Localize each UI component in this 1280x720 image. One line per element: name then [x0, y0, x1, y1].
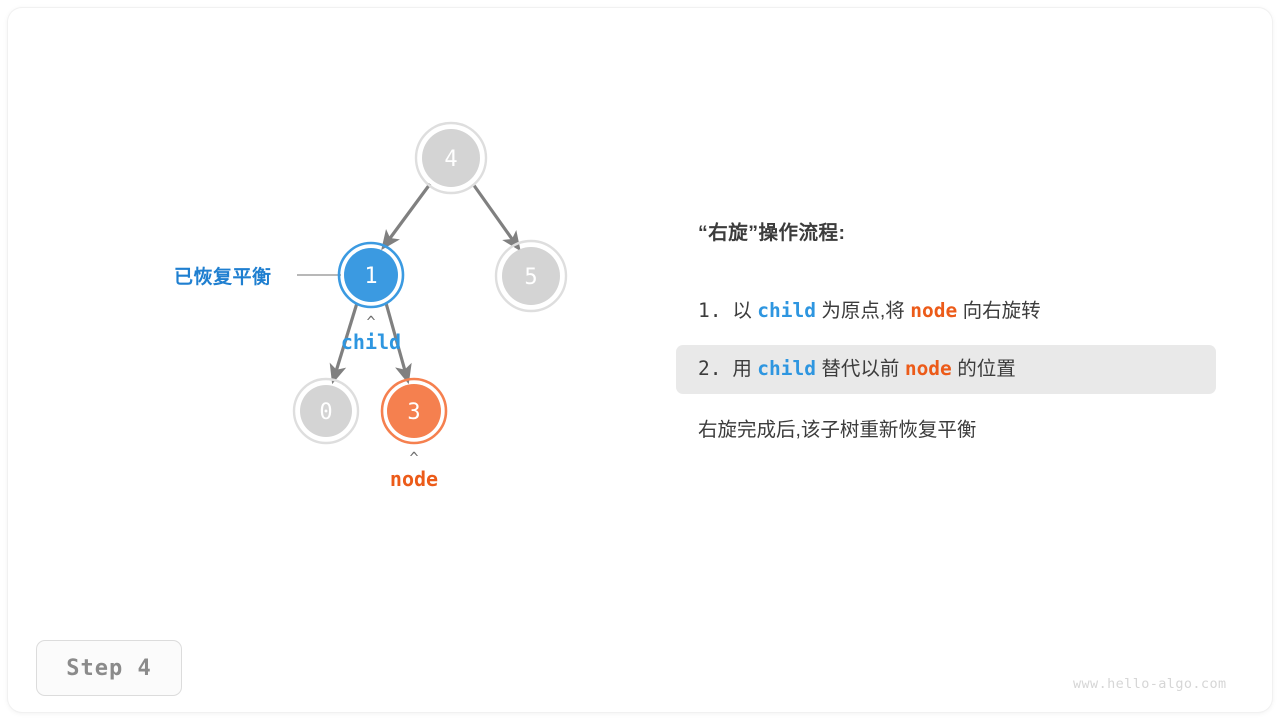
node-pointer-annotation: ^ node [390, 449, 438, 491]
explain-step-1: 1. 以 child 为原点,将 node 向右旋转 [676, 287, 1216, 335]
step-2-index: 2. [698, 357, 721, 380]
step-2-keyword-node: node [905, 357, 952, 380]
tree-node-3[interactable]: 3 [382, 379, 446, 443]
step-2-seg2: 替代以前 [821, 358, 899, 380]
explain-conclusion: 右旋完成后,该子树重新恢复平衡 [676, 406, 1216, 454]
panel-title: “右旋”操作流程: [676, 216, 1216, 245]
node-5-label: 5 [524, 265, 537, 290]
explain-step-2: 2. 用 child 替代以前 node 的位置 [676, 345, 1216, 393]
step-1-seg1: 以 [732, 300, 752, 322]
step-2-seg3: 的位置 [957, 358, 1016, 380]
node-0-label: 0 [319, 400, 332, 425]
site-watermark: www.hello-algo.com [1073, 676, 1227, 692]
step-1-index: 1. [698, 299, 721, 322]
tree-node-4[interactable]: 4 [416, 123, 486, 193]
edge-4-5 [473, 184, 517, 246]
step-1-seg2: 为原点,将 [821, 300, 904, 322]
screenshot-root: 4 5 0 1 3 ^ child [0, 0, 1280, 720]
tree-node-1[interactable]: 1 [339, 243, 403, 307]
explanation-panel: “右旋”操作流程: 1. 以 child 为原点,将 node 向右旋转 2. … [676, 216, 1216, 464]
node-1-label: 1 [364, 264, 377, 289]
step-1-seg3: 向右旋转 [963, 300, 1041, 322]
step-1-keyword-node: node [910, 299, 957, 322]
node-4-label: 4 [444, 147, 457, 172]
node-3-label: 3 [407, 400, 420, 425]
balanced-annotation-label: 已恢复平衡 [174, 262, 272, 289]
edge-4-1 [385, 184, 430, 245]
step-badge: Step 4 [36, 640, 182, 696]
step-2-seg1: 用 [732, 358, 752, 380]
child-caret-icon: ^ [366, 313, 375, 331]
tree-node-5[interactable]: 5 [496, 241, 566, 311]
tree-node-0[interactable]: 0 [294, 379, 358, 443]
child-pointer-label: child [341, 330, 401, 354]
node-pointer-label: node [390, 467, 438, 491]
node-caret-icon: ^ [409, 449, 418, 467]
step-2-keyword-child: child [757, 357, 816, 380]
step-1-keyword-child: child [757, 299, 816, 322]
